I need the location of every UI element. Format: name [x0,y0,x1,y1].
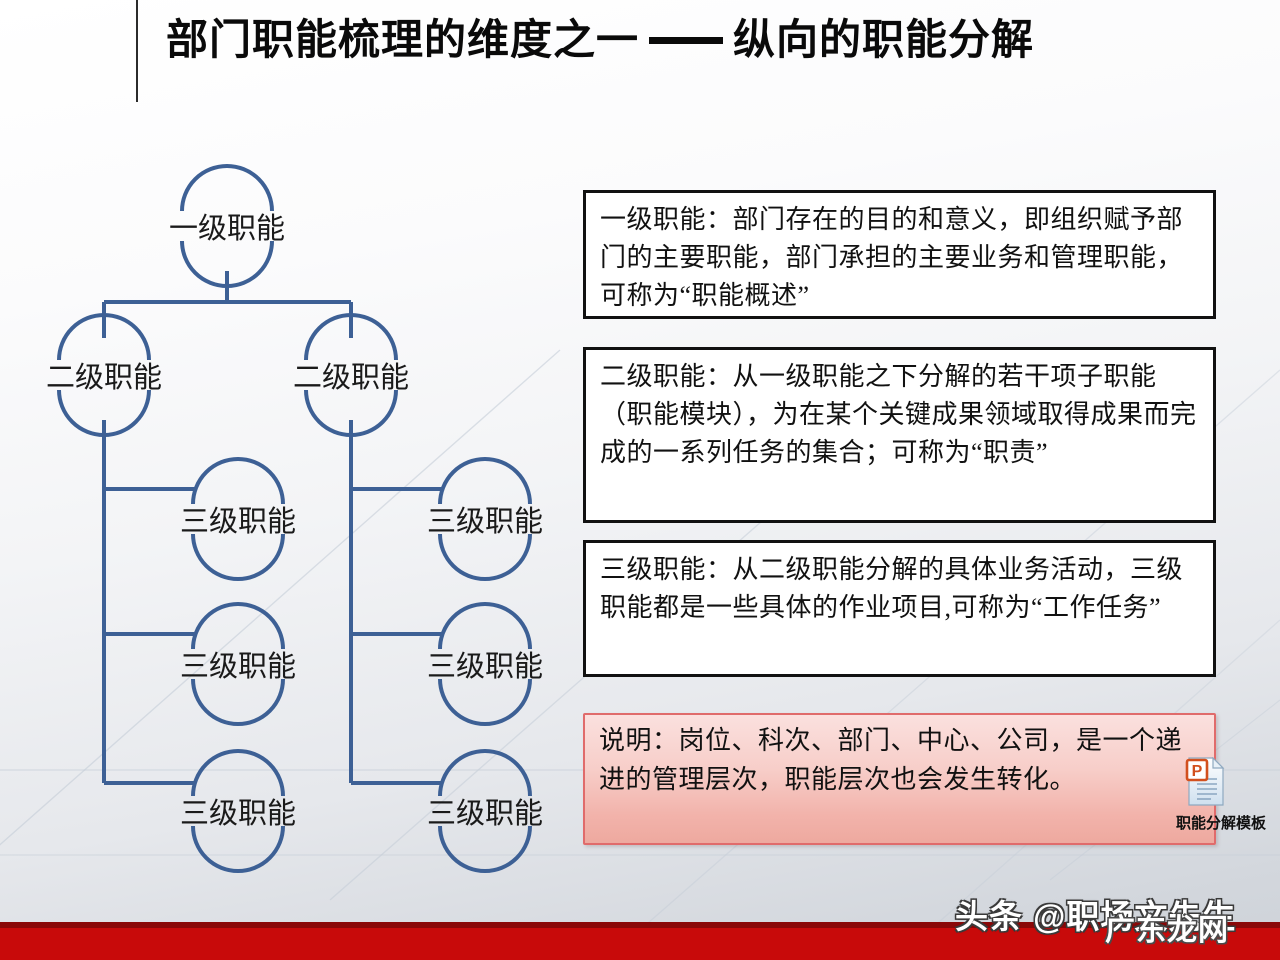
node-arc-bottom [193,826,283,871]
tree-node-level2[interactable]: 二级职能 [293,354,409,396]
attachment-caption: 职能分解模板 [1162,812,1280,833]
tree-node-level1[interactable]: 一级职能 [169,205,285,247]
info-box-level1: 一级职能：部门存在的目的和意义，即组织赋予部门的主要职能，部门承担的主要业务和管… [583,190,1216,319]
tree-node-level3[interactable]: 三级职能 [180,643,296,685]
node-arc-bottom [193,534,283,579]
slide-canvas: 部门职能梳理的维度之一纵向的职能分解 [0,0,1280,960]
node-arc-bottom [193,679,283,724]
tree-node-level2[interactable]: 二级职能 [46,354,162,396]
tree-node-level3[interactable]: 三级职能 [180,790,296,832]
title-dash [649,37,723,44]
page-title-suffix: 纵向的职能分解 [733,18,1034,64]
node-arc-bottom [440,679,530,724]
powerpoint-file-icon[interactable]: P [1185,757,1227,807]
note-box: 说明：岗位、科次、部门、中心、公司，是一个递进的管理层次，职能层次也会发生转化。 [583,713,1216,845]
info-box-level3: 三级职能：从二级职能分解的具体业务活动，三级职能都是一些具体的作业项目,可称为“… [583,540,1216,677]
tree-connectors [0,0,580,900]
tree-node-level3[interactable]: 三级职能 [180,498,296,540]
node-arc-bottom [440,534,530,579]
info-box-level2: 二级职能：从一级职能之下分解的若干项子职能（职能模块），为在某个关键成果领域取得… [583,347,1216,523]
ppt-letter: P [1192,763,1203,780]
node-arc-bottom [440,826,530,871]
tree-node-level3[interactable]: 三级职能 [427,790,543,832]
watermark-secondary: 广东龙网 [1105,905,1229,949]
tree-node-level3[interactable]: 三级职能 [427,643,543,685]
tree-node-level3[interactable]: 三级职能 [427,498,543,540]
function-decomposition-tree: 一级职能 二级职能 二级职能 三级职能 三级职能 三级职能 三级职能 三级职能 … [0,0,580,900]
